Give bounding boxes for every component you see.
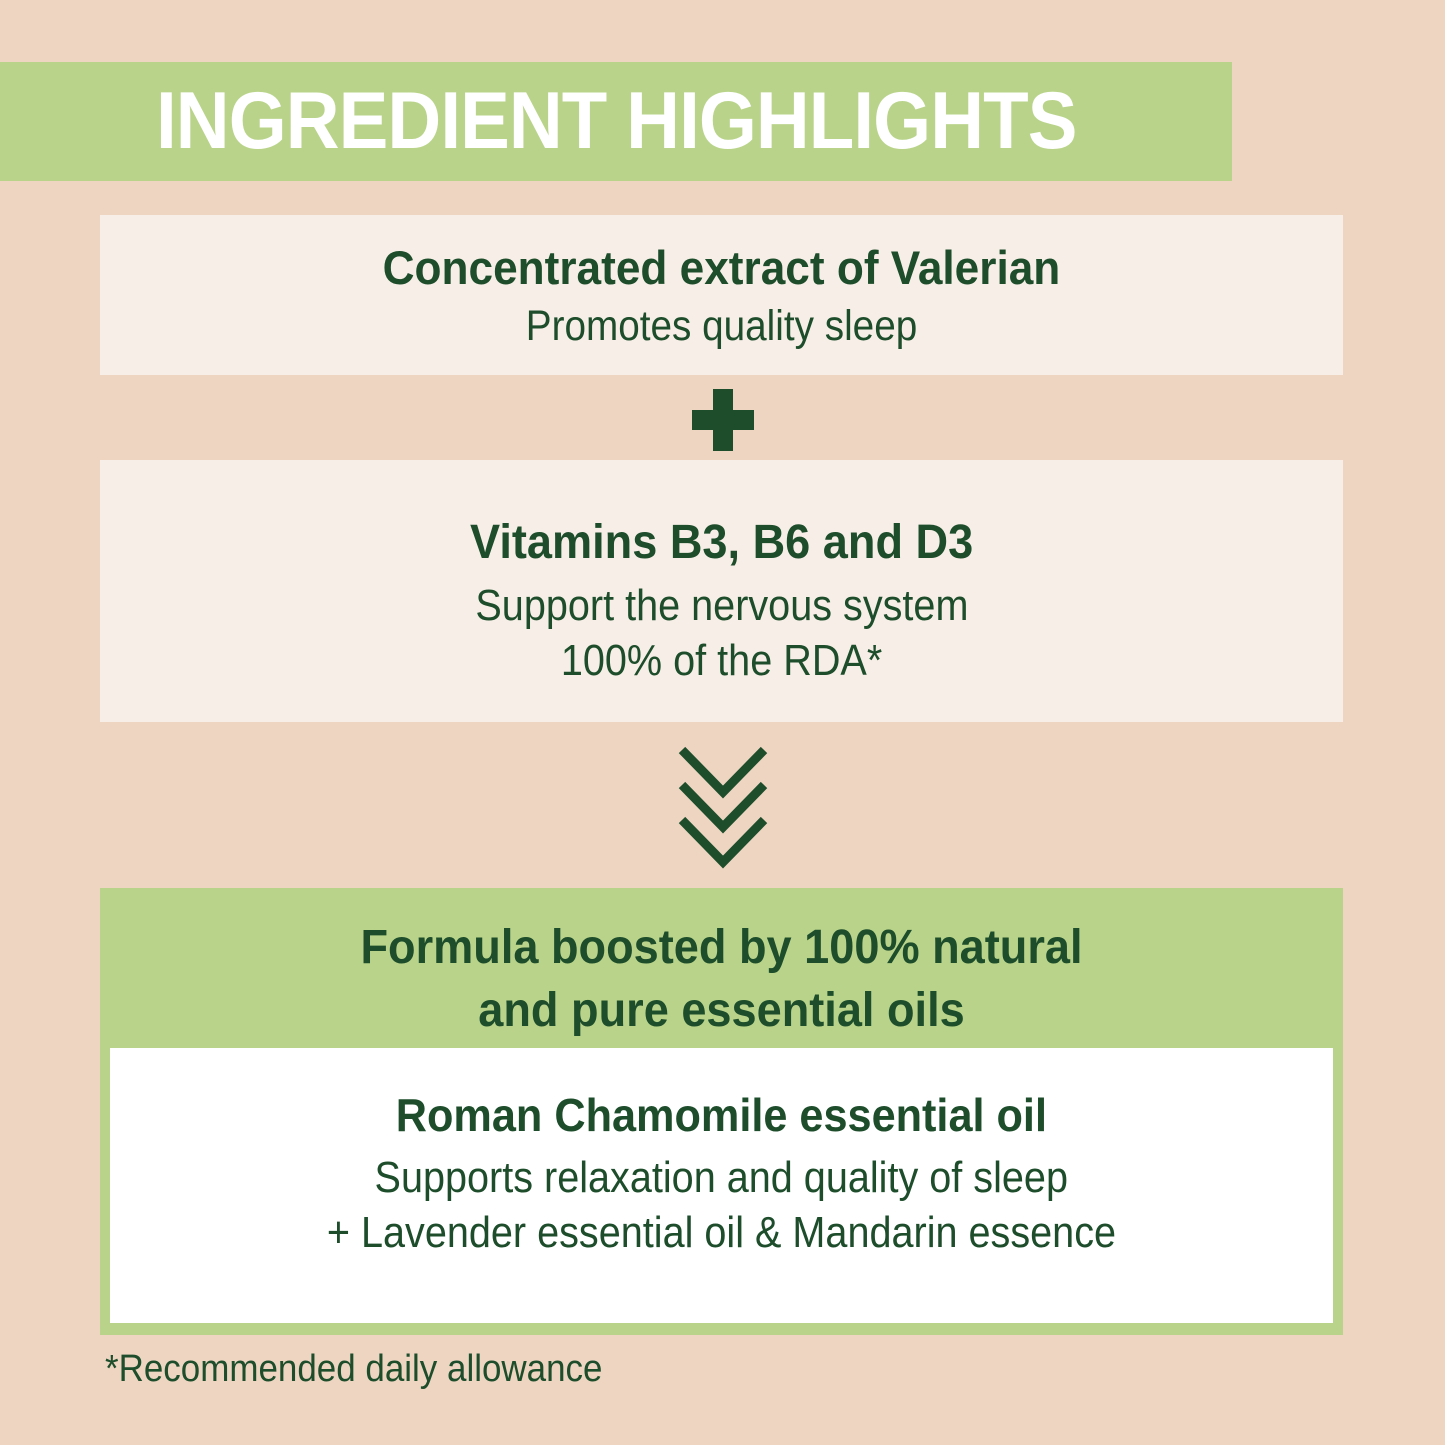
essential-oils-heading-line-1: Formula boosted by 100% natural — [137, 916, 1305, 979]
connector-plus — [0, 389, 1445, 451]
plus-icon-vertical-bar — [713, 389, 733, 451]
ingredient-highlights-infographic: INGREDIENT HIGHLIGHTS Concentrated extra… — [0, 0, 1445, 1445]
essential-oils-heading-line-2: and pure essential oils — [137, 979, 1305, 1042]
vitamins-subtitle-line-1: Support the nervous system — [475, 578, 968, 633]
valerian-title: Concentrated extract of Valerian — [383, 242, 1061, 295]
triple-chevron-down-icon — [658, 742, 788, 872]
footnote-rda: *Recommended daily allowance — [105, 1349, 602, 1391]
chamomile-title: Roman Chamomile essential oil — [396, 1090, 1047, 1142]
ingredient-card-vitamins: Vitamins B3, B6 and D3 Support the nervo… — [100, 460, 1343, 722]
page-title: INGREDIENT HIGHLIGHTS — [156, 81, 1076, 162]
header-banner: INGREDIENT HIGHLIGHTS — [0, 62, 1232, 181]
vitamins-title: Vitamins B3, B6 and D3 — [470, 516, 973, 570]
ingredient-card-valerian: Concentrated extract of Valerian Promote… — [100, 215, 1343, 375]
essential-oils-block: Formula boosted by 100% natural and pure… — [100, 888, 1343, 1335]
chamomile-subtitle-line-1: Supports relaxation and quality of sleep — [375, 1150, 1068, 1205]
essential-oils-heading: Formula boosted by 100% natural and pure… — [137, 916, 1305, 1043]
connector-chevrons — [0, 742, 1445, 872]
valerian-subtitle: Promotes quality sleep — [526, 300, 918, 354]
chamomile-subtitle-line-2: + Lavender essential oil & Mandarin esse… — [327, 1205, 1116, 1260]
plus-icon — [692, 389, 754, 451]
vitamins-subtitle-line-2: 100% of the RDA* — [561, 633, 882, 688]
chamomile-card: Roman Chamomile essential oil Supports r… — [110, 1048, 1333, 1323]
